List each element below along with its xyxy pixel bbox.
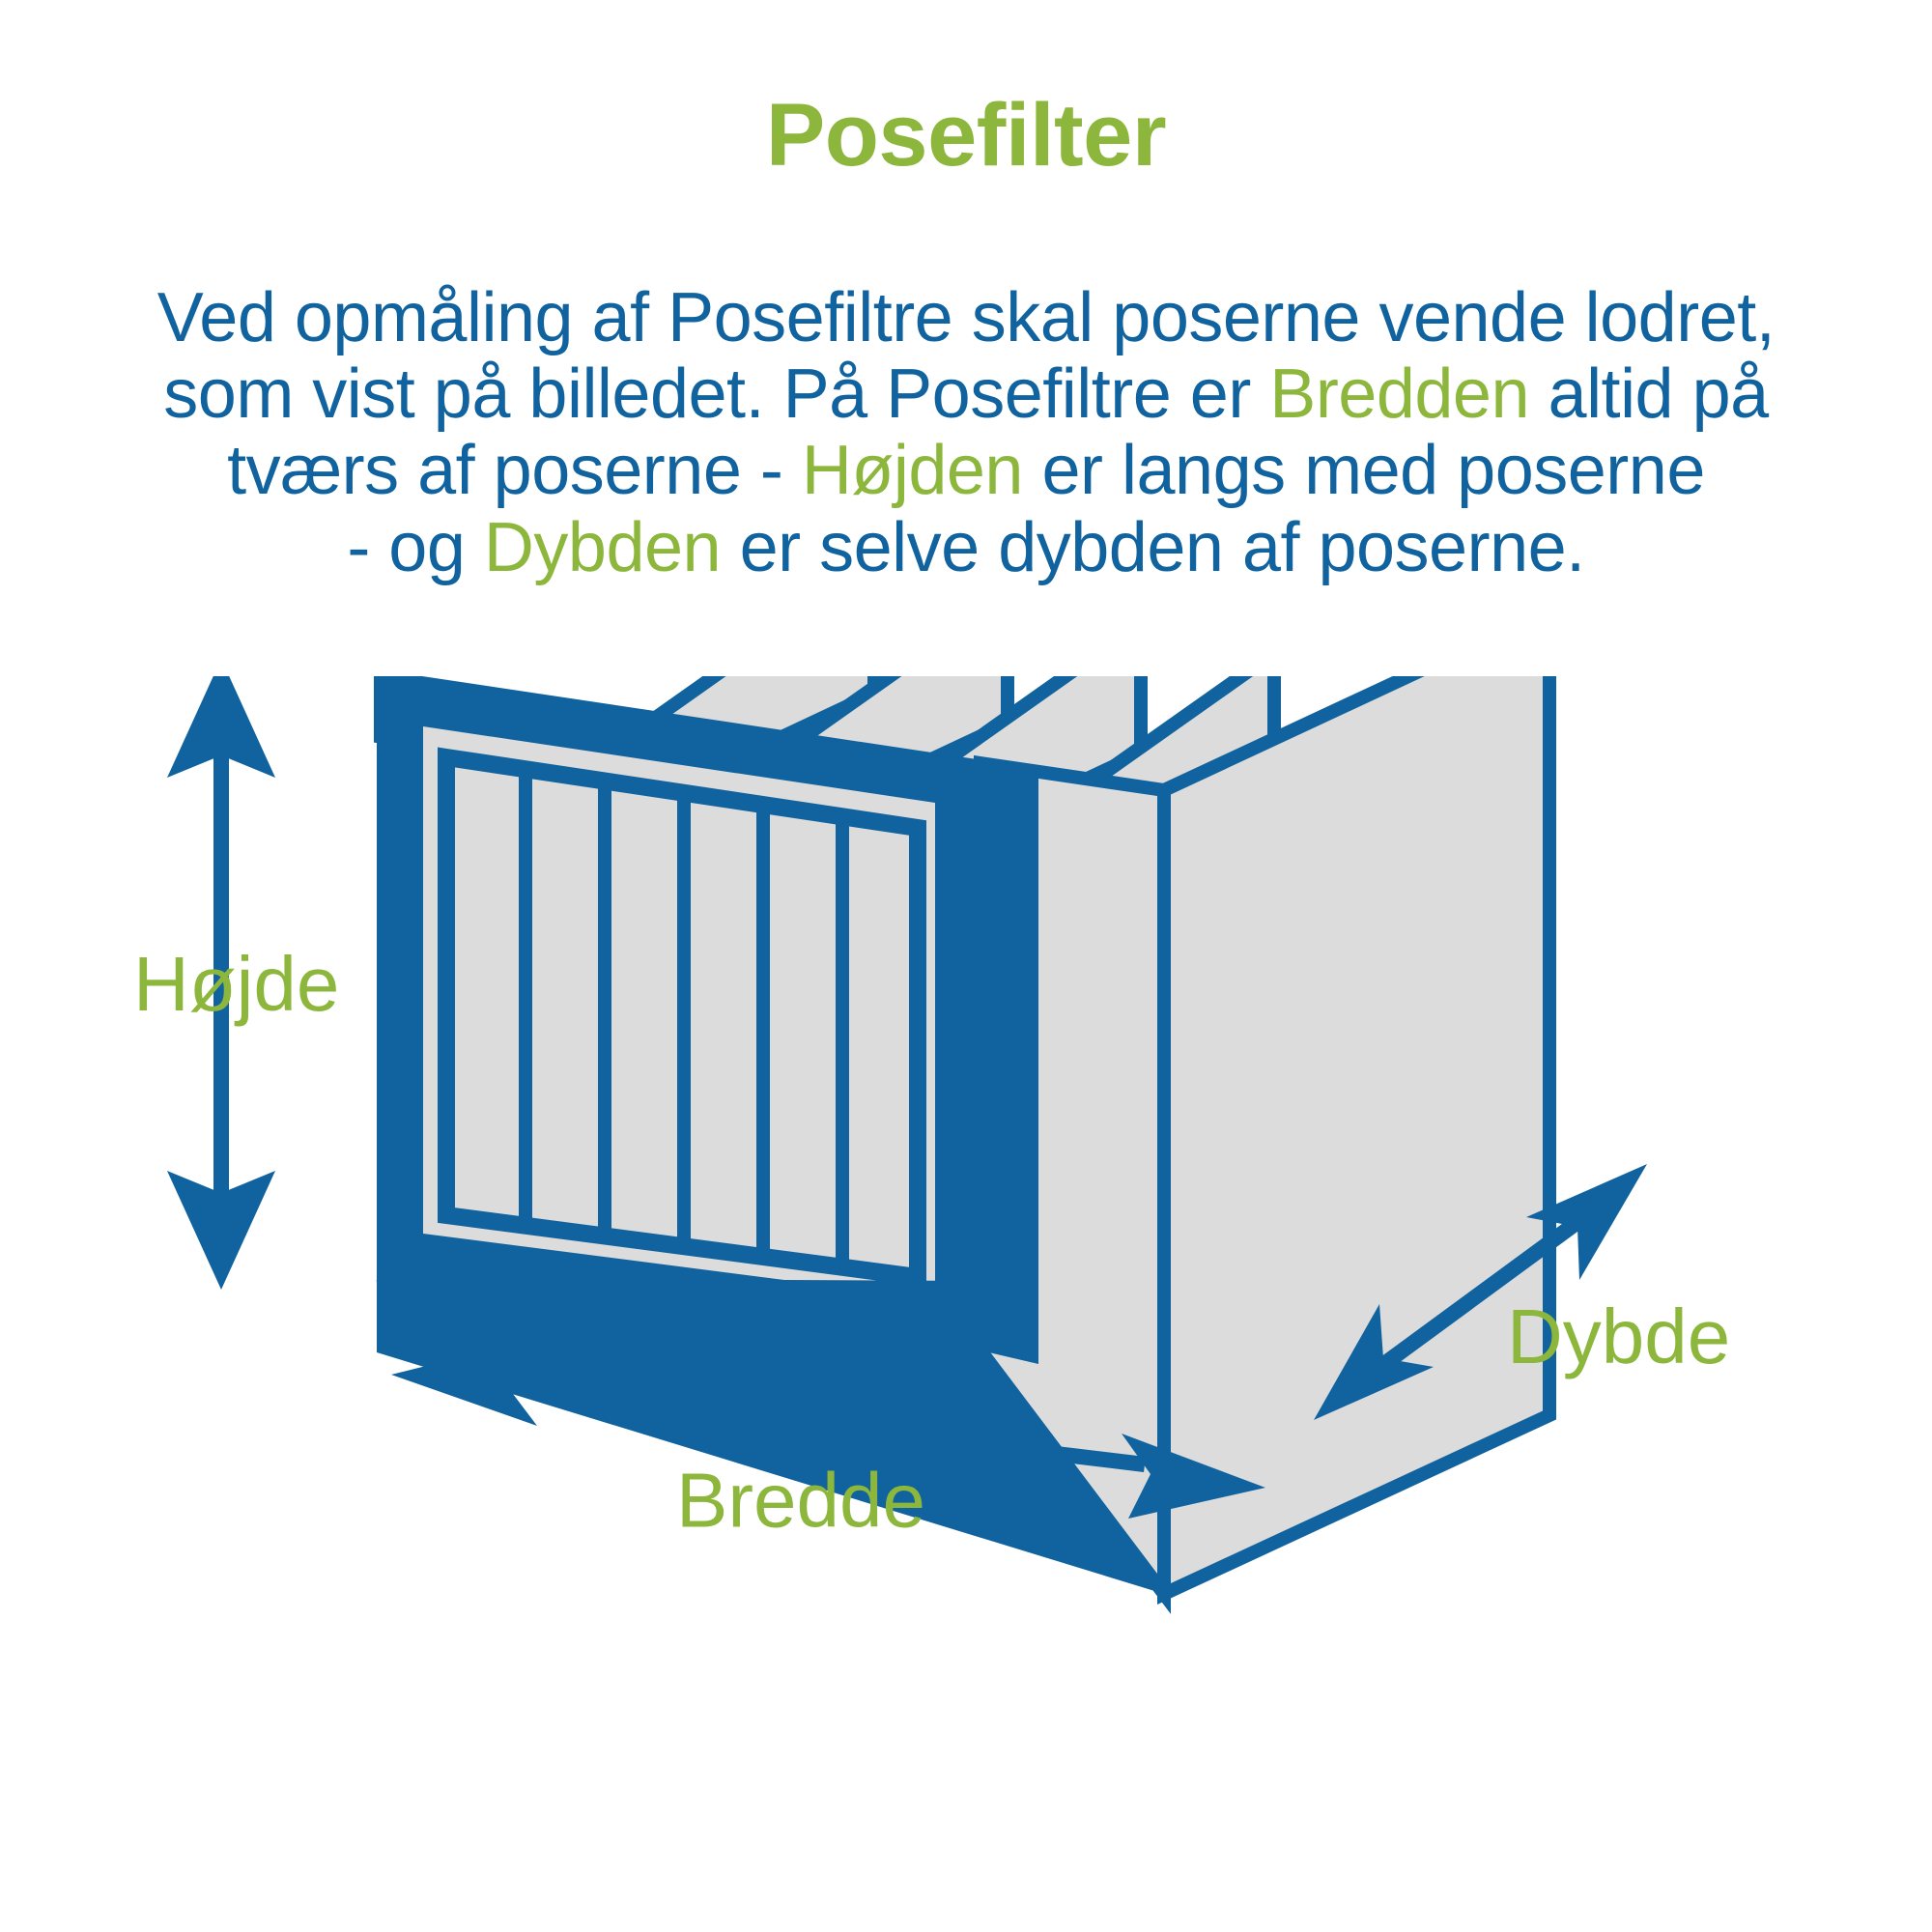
intro-line-2-text-b: altid på — [1529, 355, 1769, 433]
intro-line-3-text-a: tværs af poserne - — [227, 432, 802, 509]
bag-filter-diagram: Højde Bredde Dybde — [0, 676, 1932, 1932]
width-label: Bredde — [676, 1458, 925, 1544]
intro-line-2-text-a: som vist på billedet. På Posefiltre er — [163, 355, 1269, 433]
highlight-hojden: Højden — [802, 432, 1023, 509]
page-title: Posefilter — [0, 89, 1932, 183]
frame-right-edge-blue — [980, 763, 1038, 1364]
intro-line-3: tværs af poserne - Højden er langs med p… — [77, 433, 1855, 509]
intro-line-1: Ved opmåling af Posefiltre skal poserne … — [77, 280, 1855, 356]
infographic-page: Posefilter Ved opmåling af Posefiltre sk… — [0, 0, 1932, 1932]
intro-line-2: som vist på billedet. På Posefiltre er B… — [77, 356, 1855, 433]
intro-line-4: - og Dybden er selve dybden af poserne. — [77, 510, 1855, 586]
right-side-panel — [1164, 676, 1549, 1594]
intro-line-1-text: Ved opmåling af Posefiltre skal poserne … — [157, 279, 1776, 356]
intro-line-4-text-a: - og — [347, 509, 484, 586]
depth-label: Dybde — [1507, 1293, 1730, 1379]
intro-line-3-text-b: er langs med poserne — [1023, 432, 1705, 509]
height-label: Højde — [133, 941, 339, 1027]
highlight-dybden: Dybden — [484, 509, 721, 586]
intro-line-4-text-b: er selve dybden af poserne. — [721, 509, 1585, 586]
highlight-bredden: Bredden — [1269, 355, 1529, 433]
intro-paragraph: Ved opmåling af Posefiltre skal poserne … — [77, 280, 1855, 586]
